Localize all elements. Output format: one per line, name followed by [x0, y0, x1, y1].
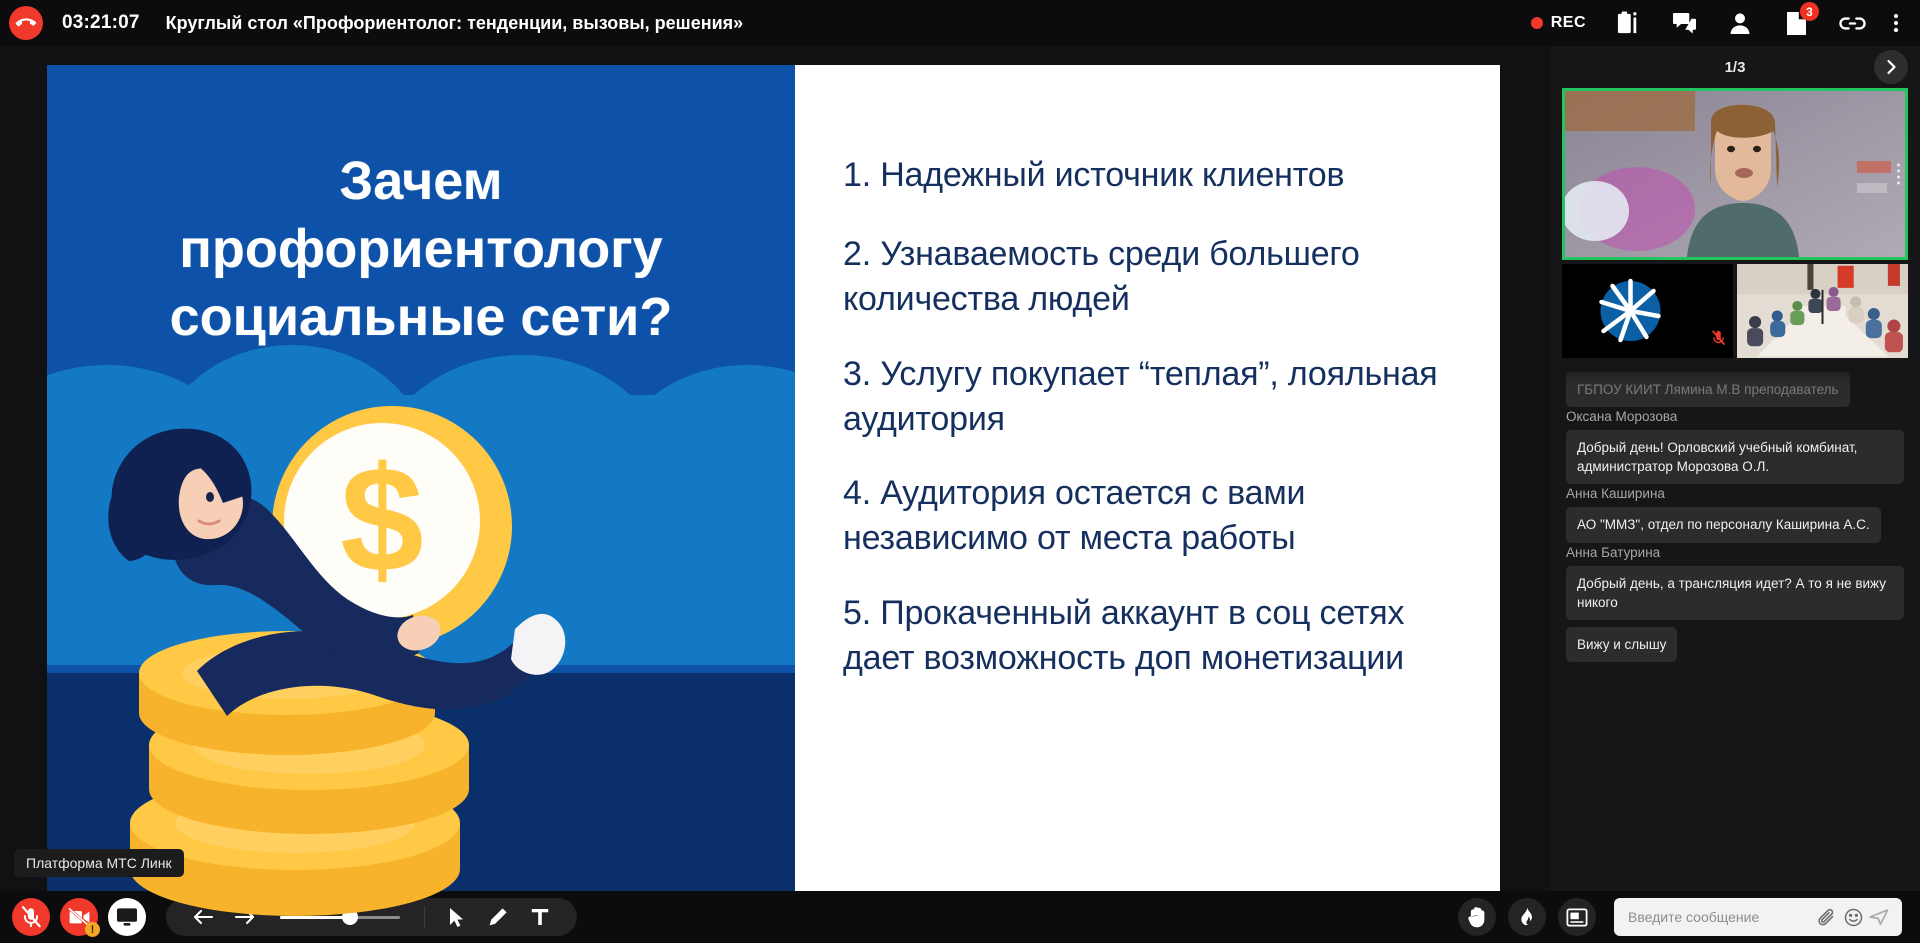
chat-message-group: ГБПОУ КИИТ Лямина М.В преподаватель [1566, 372, 1904, 409]
video-tile-logo[interactable] [1562, 264, 1733, 358]
next-slide-button[interactable] [1874, 50, 1908, 84]
platform-badge: Платформа МТС Линк [14, 849, 184, 877]
chat-message-group: Анна Каширина АО "ММЗ", отдел по персона… [1566, 486, 1904, 544]
chat-bubble: Добрый день! Орловский учебный комбинат,… [1566, 430, 1904, 484]
slide-title-line-3: социальные сети? [107, 283, 735, 351]
chat-bubble: АО "ММЗ", отдел по персоналу Каширина А.… [1566, 507, 1881, 542]
slide-bullet-list: 1. Надежный источник клиентов 2. Узнавае… [843, 153, 1456, 681]
top-bar-actions: REC [1531, 0, 1920, 46]
chat-bubble: Добрый день, а трансляция идет? А то я н… [1566, 566, 1904, 620]
chat-bubble: Вижу и слышу [1566, 627, 1677, 662]
slide-title-line-1: Зачем [107, 147, 735, 215]
recording-indicator[interactable]: REC [1531, 14, 1586, 32]
layout-button[interactable] [1558, 898, 1596, 936]
slide-bullet-2: 2. Узнаваемость среди большего количеств… [843, 232, 1456, 322]
presentation-stage: Зачем профориентологу социальные сети? [0, 46, 1550, 891]
slide-title-line-2: профориентологу [107, 215, 735, 283]
emoji-button[interactable] [1840, 904, 1866, 930]
chat-bubble: ГБПОУ КИИТ Лямина М.В преподаватель [1566, 372, 1850, 407]
meeting-title: Круглый стол «Профориентолог: тенденции,… [166, 13, 744, 34]
slide-left-panel: Зачем профориентологу социальные сети? [47, 65, 795, 931]
slide-bullet-4: 4. Аудитория остается с вами независимо … [843, 471, 1456, 561]
chat-author: Анна Батурина [1566, 545, 1904, 560]
raise-hand-button[interactable] [1458, 898, 1496, 936]
woman-on-coin-stack-illustration: $ [47, 371, 795, 931]
link-icon[interactable] [1838, 9, 1866, 37]
meeting-app: 03:21:07 Круглый стол «Профориентолог: т… [0, 0, 1920, 943]
video-tile-speaker[interactable] [1562, 88, 1908, 260]
fire-reaction-button[interactable] [1508, 898, 1546, 936]
slide-counter: 1/3 [1725, 59, 1746, 76]
slide-right-panel: 1. Надежный источник клиентов 2. Узнавае… [795, 65, 1500, 931]
files-icon[interactable]: 3 [1782, 9, 1810, 37]
rec-label: REC [1551, 14, 1586, 32]
more-menu-icon[interactable] [1894, 14, 1898, 32]
video-tile-row [1562, 264, 1908, 358]
tile-more-icon[interactable] [1897, 164, 1900, 185]
message-input[interactable] [1628, 909, 1814, 925]
files-badge: 3 [1800, 2, 1819, 21]
slide-content[interactable]: Зачем профориентологу социальные сети? [47, 65, 1500, 931]
bottom-bar-right [1458, 898, 1920, 936]
video-tile-room[interactable] [1737, 264, 1908, 358]
attach-file-button[interactable] [1814, 904, 1840, 930]
svg-text:$: $ [340, 435, 423, 603]
chat-author: Анна Каширина [1566, 486, 1904, 501]
chat-panel[interactable]: ГБПОУ КИИТ Лямина М.В преподаватель Окса… [1550, 358, 1920, 891]
chat-icon[interactable] [1670, 9, 1698, 37]
participants-icon[interactable] [1726, 9, 1754, 37]
chat-message-group: Оксана Морозова Добрый день! Орловский у… [1566, 409, 1904, 486]
chat-input-box[interactable] [1614, 898, 1902, 936]
slide-navigation: 1/3 [1550, 46, 1920, 88]
poll-icon[interactable] [1614, 9, 1642, 37]
slide-bullet-3: 3. Услугу покупает “теплая”, лояльная ау… [843, 352, 1456, 442]
microphone-muted-button[interactable] [12, 898, 50, 936]
video-tiles [1550, 88, 1920, 358]
chat-author: Оксана Морозова [1566, 409, 1904, 424]
end-call-button[interactable] [9, 6, 43, 40]
send-message-button[interactable] [1866, 904, 1892, 930]
top-bar: 03:21:07 Круглый стол «Профориентолог: т… [0, 0, 1920, 46]
mic-muted-icon [1712, 330, 1725, 351]
record-dot-icon [1531, 17, 1543, 29]
chat-message-group: Анна Батурина Добрый день, а трансляция … [1566, 545, 1904, 664]
slide-title: Зачем профориентологу социальные сети? [47, 65, 795, 351]
slide-bullet-5: 5. Прокаченный аккаунт в соц сетях дает … [843, 591, 1456, 681]
slide-bullet-1: 1. Надежный источник клиентов [843, 153, 1456, 198]
meeting-timer: 03:21:07 [62, 12, 140, 34]
right-sidebar: 1/3 [1550, 46, 1920, 891]
